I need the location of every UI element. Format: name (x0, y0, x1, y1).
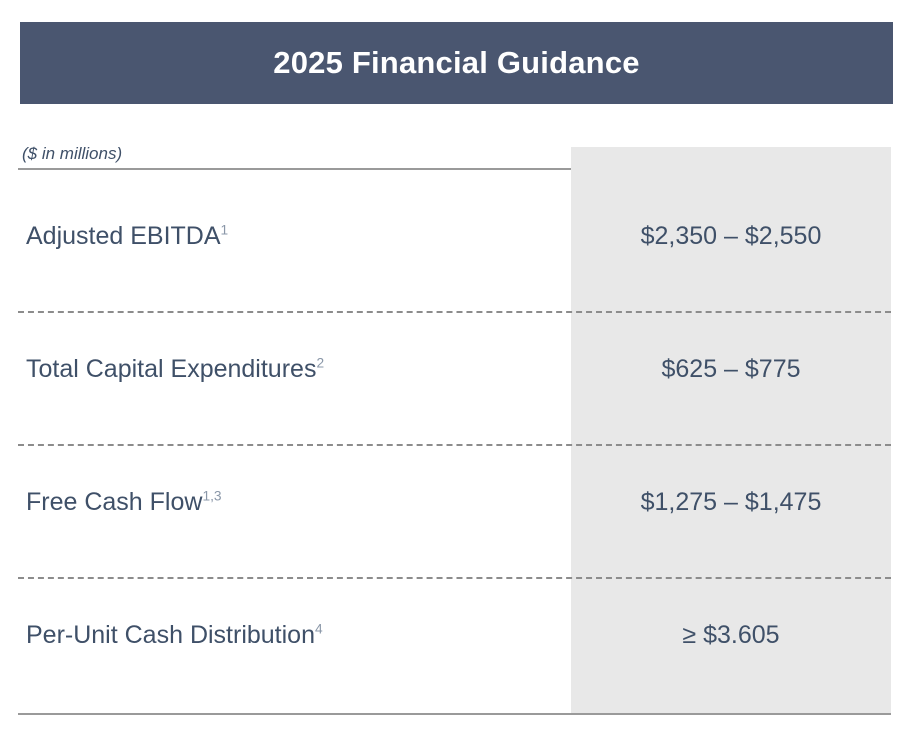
row-separator (18, 444, 891, 446)
footnote-marker: 1,3 (202, 488, 221, 503)
row-label-text: Total Capital Expenditures (26, 355, 316, 383)
row-label-text: Per-Unit Cash Distribution (26, 621, 315, 649)
row-value-total-capital-expenditures: $625 – $775 (571, 355, 891, 384)
row-label-total-capital-expenditures: Total Capital Expenditures2 (18, 355, 571, 384)
table-row: Adjusted EBITDA1 $2,350 – $2,550 (18, 170, 893, 303)
footnote-marker: 1 (221, 222, 229, 237)
table-body: Adjusted EBITDA1 $2,350 – $2,550 Total C… (18, 170, 893, 702)
table-row: Per-Unit Cash Distribution4 ≥ $3.605 (18, 569, 893, 702)
row-label-adjusted-ebitda: Adjusted EBITDA1 (18, 222, 571, 251)
row-value-per-unit-cash-distribution: ≥ $3.605 (571, 621, 891, 650)
footnote-marker: 4 (315, 621, 323, 636)
row-label-text: Free Cash Flow (26, 488, 202, 516)
row-separator (18, 577, 891, 579)
row-label-free-cash-flow: Free Cash Flow1,3 (18, 488, 571, 517)
page-title-banner: 2025 Financial Guidance (20, 22, 893, 104)
table-bottom-rule (18, 713, 891, 715)
footnote-marker: 2 (316, 355, 324, 370)
table-row: Total Capital Expenditures2 $625 – $775 (18, 303, 893, 436)
row-value-adjusted-ebitda: $2,350 – $2,550 (571, 222, 891, 251)
row-separator (18, 311, 891, 313)
row-label-text: Adjusted EBITDA (26, 222, 221, 250)
row-value-free-cash-flow: $1,275 – $1,475 (571, 488, 891, 517)
financial-guidance-table: ($ in millions) Adjusted EBITDA1 $2,350 … (18, 145, 893, 702)
table-row: Free Cash Flow1,3 $1,275 – $1,475 (18, 436, 893, 569)
page-title: 2025 Financial Guidance (273, 45, 639, 81)
row-label-per-unit-cash-distribution: Per-Unit Cash Distribution4 (18, 621, 571, 650)
